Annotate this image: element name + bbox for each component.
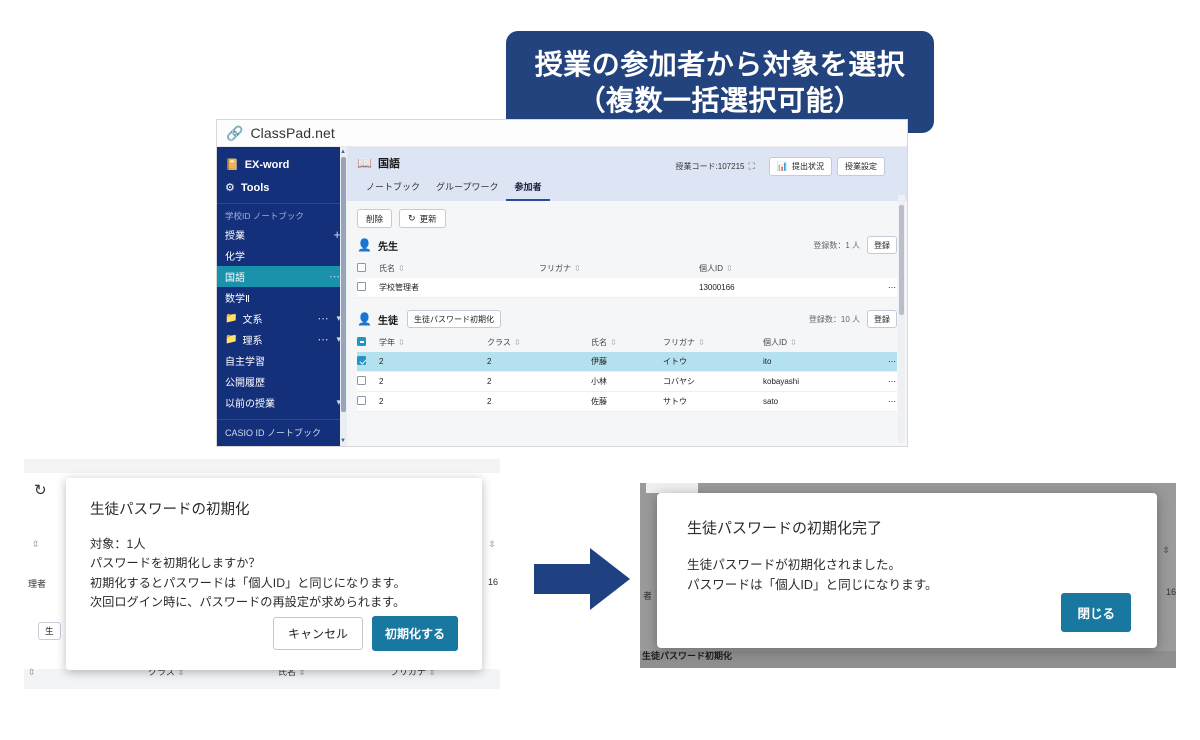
sidebar-item-label: 数学Ⅱ xyxy=(225,290,341,305)
column-header-kana[interactable]: フリガナ⇳ xyxy=(539,259,699,278)
more-icon[interactable]: ⋯ xyxy=(317,333,329,346)
cancel-button[interactable]: キャンセル xyxy=(273,617,363,650)
column-label: 個人ID xyxy=(699,264,723,273)
book-icon: 📔 xyxy=(225,158,239,171)
student-count-label: 登録数：10 人 xyxy=(809,314,860,325)
close-button[interactable]: 閉じる xyxy=(1061,593,1131,632)
sort-icon[interactable]: ⇳ xyxy=(790,338,797,347)
content-scroll-thumb[interactable] xyxy=(899,205,904,315)
sidebar-item-kokugo[interactable]: 国語 ⋯ xyxy=(217,266,347,287)
confirm-dialog-panel: ↻ ⇳ 理者 生 ⇳ クラス ⇳ 氏名 ⇳ フリガナ ⇳ ⇳ 16 生徒パスワー… xyxy=(24,459,500,689)
row-more-icon[interactable]: ⋯ xyxy=(871,352,897,372)
button-label: 授業設定 xyxy=(845,161,877,172)
sidebar-item-kagaku[interactable]: 化学 xyxy=(217,245,347,266)
more-icon[interactable]: ⋯ xyxy=(317,312,329,325)
student-register-button[interactable]: 登録 xyxy=(867,310,897,328)
content-header: 📖 国語 授業コード:107215 ⛶ 📊 提出状況 授業設定 ノートブック xyxy=(347,147,907,201)
checkbox[interactable] xyxy=(357,396,366,405)
cell-grade: 2 xyxy=(379,392,487,412)
cell-class: 2 xyxy=(487,372,591,392)
sidebar-item-izennojugyo[interactable]: 以前の授業 ▾ xyxy=(217,392,347,413)
column-label: 学年 xyxy=(379,338,395,347)
password-reset-confirm-dialog: 生徒パスワードの初期化 対象：1人 パスワードを初期化しますか？ 初期化するとパ… xyxy=(66,478,482,670)
checkbox[interactable] xyxy=(357,337,366,346)
sidebar-scrollbar[interactable]: ▲ ▼ xyxy=(340,147,347,446)
button-label: 更新 xyxy=(420,213,437,225)
bg-reset-label[interactable]: 生徒パスワード初期化 xyxy=(642,649,732,662)
sidebar-item-label: Tools xyxy=(241,182,270,194)
book-open-icon: 📖 xyxy=(357,156,372,170)
dialog-title: 生徒パスワードの初期化 xyxy=(90,498,458,519)
callout-line-2: （複数一括選択可能） xyxy=(516,83,924,119)
cell-name: 佐藤 xyxy=(591,392,663,412)
column-header-id[interactable]: 個人ID⇳ xyxy=(699,259,871,278)
teacher-register-button[interactable]: 登録 xyxy=(867,236,897,254)
tab-participants[interactable]: 参加者 xyxy=(506,180,549,201)
toolbox-icon: ⚙ xyxy=(225,181,235,194)
right-arrow-icon xyxy=(534,548,630,610)
reset-student-password-button[interactable]: 生徒パスワード初期化 xyxy=(407,310,501,328)
cell-id: 13000166 xyxy=(699,278,871,298)
button-label: 登録 xyxy=(874,240,890,251)
sort-icon[interactable]: ⇳ xyxy=(574,264,581,273)
sort-icon[interactable]: ⇳ xyxy=(726,264,733,273)
student-section-header: 👤 生徒 生徒パスワード初期化 登録数：10 人 登録 xyxy=(357,308,897,330)
dialog-title: 生徒パスワードの初期化完了 xyxy=(687,517,1129,538)
cell-id: ito xyxy=(763,352,871,372)
teacher-table: 氏名⇳ フリガナ⇳ 個人ID⇳ 学校管理者 13000166 ⋯ xyxy=(357,259,897,298)
cell-name: 伊藤 xyxy=(591,352,663,372)
column-header-grade[interactable]: 学年⇳ xyxy=(379,333,487,352)
row-more-icon[interactable]: ⋯ xyxy=(871,372,897,392)
row-checkbox[interactable] xyxy=(357,372,379,392)
column-label: クラス xyxy=(487,338,511,347)
completion-dialog-panel: 者 生徒パスワード初期化 ⇳ 16 生徒パスワードの初期化完了 生徒パスワードが… xyxy=(640,483,1176,668)
table-row[interactable]: 2 2 佐藤 サトウ sato ⋯ xyxy=(357,392,897,412)
sort-icon: ⇳ xyxy=(1162,545,1170,556)
sidebar-item-label: 理系 xyxy=(242,332,313,347)
tab-bar: ノートブック グループワーク 参加者 xyxy=(357,180,897,201)
dialog-line: 対象：1人 xyxy=(90,535,458,554)
reset-confirm-button[interactable]: 初期化する xyxy=(372,616,458,651)
sort-icon: ⇳ xyxy=(28,667,36,678)
cell-id: sato xyxy=(763,392,871,412)
student-section-title: 生徒 xyxy=(378,312,398,327)
cell-kana: コバヤシ xyxy=(663,372,763,392)
student-section: 👤 生徒 生徒パスワード初期化 登録数：10 人 登録 学年⇳ クラ xyxy=(347,308,907,412)
cell-name: 学校管理者 xyxy=(379,278,539,298)
student-icon: 👤 xyxy=(357,312,372,326)
dialog-actions: キャンセル 初期化する xyxy=(273,616,458,651)
password-reset-complete-dialog: 生徒パスワードの初期化完了 生徒パスワードが初期化されました。 パスワードは「個… xyxy=(657,493,1157,648)
app-titlebar: 🔗 ClassPad.net xyxy=(217,120,907,147)
dialog-line: 初期化するとパスワードは「個人ID」と同じになります。 xyxy=(90,574,458,593)
sidebar-item-bunkei[interactable]: 📁 文系 ⋯ ▾ xyxy=(217,308,347,329)
class-settings-button[interactable]: 授業設定 xyxy=(837,157,885,176)
checkbox[interactable] xyxy=(357,282,366,291)
button-label: 登録 xyxy=(874,314,890,325)
app-logo-text: ClassPad.net xyxy=(250,125,334,141)
sidebar-item-label: 自主学習 xyxy=(225,353,341,368)
button-label: 提出状況 xyxy=(792,161,824,172)
cell-grade: 2 xyxy=(379,352,487,372)
dialog-line: パスワードを初期化しますか？ xyxy=(90,554,458,573)
button-label: 生徒パスワード初期化 xyxy=(414,314,494,325)
row-checkbox[interactable] xyxy=(357,352,379,372)
sort-icon[interactable]: ⇳ xyxy=(698,338,705,347)
row-more-icon[interactable]: ⋯ xyxy=(871,392,897,412)
teacher-section: 👤 先生 登録数：1 人 登録 氏名⇳ フリガナ⇳ 個人ID⇳ xyxy=(347,234,907,298)
sidebar-item-koukairireki[interactable]: 公開履歴 xyxy=(217,371,347,392)
teacher-section-header: 👤 先生 登録数：1 人 登録 xyxy=(357,234,897,256)
cell-class: 2 xyxy=(487,392,591,412)
tab-notebook[interactable]: ノートブック xyxy=(358,180,428,201)
sidebar-item-suugaku2[interactable]: 数学Ⅱ xyxy=(217,287,347,308)
cell-id: kobayashi xyxy=(763,372,871,392)
table-row[interactable]: 2 2 小林 コバヤシ kobayashi ⋯ xyxy=(357,372,897,392)
bg-id-fragment: 16 xyxy=(488,577,498,587)
sidebar-item-label: EX-word xyxy=(245,159,290,171)
scroll-down-icon[interactable]: ▼ xyxy=(340,438,346,444)
row-more-icon[interactable]: ⋯ xyxy=(871,278,897,298)
column-header-id[interactable]: 個人ID⇳ xyxy=(763,333,871,352)
student-table: 学年⇳ クラス⇳ 氏名⇳ フリガナ⇳ 個人ID⇳ 2 2 伊藤 イトウ ito xyxy=(357,333,897,412)
dialog-actions: 閉じる xyxy=(1061,593,1131,632)
column-header-kana[interactable]: フリガナ⇳ xyxy=(663,333,763,352)
checkbox[interactable] xyxy=(357,376,366,385)
content-area: 📖 国語 授業コード:107215 ⛶ 📊 提出状況 授業設定 ノートブック xyxy=(347,147,907,446)
sidebar-item-label: 文系 xyxy=(242,311,313,326)
column-label: フリガナ xyxy=(539,264,571,273)
cell-class: 2 xyxy=(487,352,591,372)
refresh-button[interactable]: ↻ 更新 xyxy=(399,209,446,228)
folder-icon: 📁 xyxy=(225,334,237,345)
table-row[interactable]: 2 2 伊藤 イトウ ito ⋯ xyxy=(357,352,897,372)
column-label: フリガナ xyxy=(663,338,695,347)
cell-kana xyxy=(539,278,699,298)
cell-kana: イトウ xyxy=(663,352,763,372)
column-label: 個人ID xyxy=(763,338,787,347)
sidebar-item-tools[interactable]: ⚙ Tools xyxy=(217,176,347,199)
dialog-line: 次回ログイン時に、パスワードの再設定が求められます。 xyxy=(90,593,458,612)
sidebar-section-school: 学校ID ノートブック xyxy=(217,204,347,224)
app-window: 🔗 ClassPad.net 📔 EX-word ⚙ Tools 学校ID ノー… xyxy=(217,120,907,446)
refresh-icon[interactable]: ↻ xyxy=(34,481,47,499)
page-title-text: 国語 xyxy=(378,155,400,171)
sidebar-item-label: 以前の授業 xyxy=(225,395,329,410)
bg-student-fragment[interactable]: 生 xyxy=(38,622,61,640)
sort-icon[interactable]: ⇳ xyxy=(610,338,617,347)
column-header-class[interactable]: クラス⇳ xyxy=(487,333,591,352)
callout-balloon: 授業の参加者から対象を選択 （複数一括選択可能） xyxy=(506,31,934,133)
bg-admin-fragment: 者 xyxy=(643,589,652,602)
teacher-select-all-checkbox[interactable] xyxy=(357,259,379,278)
table-row[interactable]: 学校管理者 13000166 ⋯ xyxy=(357,278,897,298)
sidebar-item-label: 公開履歴 xyxy=(225,374,341,389)
bg-admin-fragment: 理者 xyxy=(28,577,46,590)
sidebar-item-jishugakushu[interactable]: 自主学習 xyxy=(217,350,347,371)
teacher-section-title: 先生 xyxy=(378,238,398,253)
student-select-all-checkbox[interactable] xyxy=(357,333,379,352)
sidebar-scroll-thumb[interactable] xyxy=(341,157,346,412)
sort-icon: ⇳ xyxy=(32,539,40,550)
content-scrollbar[interactable] xyxy=(898,195,905,443)
sidebar-section-casio: CASIO ID ノートブック xyxy=(217,420,347,441)
sidebar-item-jugyo[interactable]: 授業 + xyxy=(217,224,347,245)
table-header-row: 学年⇳ クラス⇳ 氏名⇳ フリガナ⇳ 個人ID⇳ xyxy=(357,333,897,352)
checkbox[interactable] xyxy=(357,356,366,365)
column-label: 氏名 xyxy=(591,338,607,347)
sidebar-item-exword[interactable]: 📔 EX-word xyxy=(217,153,347,176)
scroll-up-icon[interactable]: ▲ xyxy=(340,149,346,155)
folder-icon: 📁 xyxy=(225,313,237,324)
table-header-row: 氏名⇳ フリガナ⇳ 個人ID⇳ xyxy=(357,259,897,278)
sort-icon[interactable]: ⇳ xyxy=(398,338,405,347)
teacher-icon: 👤 xyxy=(357,238,372,252)
tab-groupwork[interactable]: グループワーク xyxy=(428,180,506,201)
sidebar-item-label: 授業 xyxy=(225,227,329,242)
expand-icon[interactable]: ⛶ xyxy=(748,161,754,172)
toolbar: 削除 ↻ 更新 xyxy=(347,201,907,234)
sidebar-item-label: 化学 xyxy=(225,248,341,263)
column-header-name[interactable]: 氏名⇳ xyxy=(379,259,539,278)
row-checkbox[interactable] xyxy=(357,278,379,298)
column-header-name[interactable]: 氏名⇳ xyxy=(591,333,663,352)
row-checkbox[interactable] xyxy=(357,392,379,412)
teacher-count-label: 登録数：1 人 xyxy=(813,240,860,251)
cell-name: 小林 xyxy=(591,372,663,392)
button-label: 削除 xyxy=(366,213,383,225)
sort-icon[interactable]: ⇳ xyxy=(514,338,521,347)
refresh-icon: ↻ xyxy=(408,213,416,224)
callout-line-1: 授業の参加者から対象を選択 xyxy=(516,47,924,83)
link-icon: 🔗 xyxy=(226,126,243,140)
submission-icon: 📊 xyxy=(777,161,788,172)
delete-button[interactable]: 削除 xyxy=(357,209,392,228)
sidebar-item-label: 国語 xyxy=(225,269,325,284)
column-label: 氏名 xyxy=(379,264,395,273)
bg-id-fragment: 16 xyxy=(1166,587,1176,597)
class-code-label: 授業コード:107215 xyxy=(676,161,745,172)
submission-status-button[interactable]: 📊 提出状況 xyxy=(769,157,832,176)
cell-grade: 2 xyxy=(379,372,487,392)
header-actions: 授業コード:107215 ⛶ 📊 提出状況 授業設定 xyxy=(676,157,885,176)
checkbox[interactable] xyxy=(357,263,366,272)
cell-kana: サトウ xyxy=(663,392,763,412)
sidebar-item-rikei[interactable]: 📁 理系 ⋯ ▾ xyxy=(217,329,347,350)
sort-icon: ⇳ xyxy=(488,539,496,550)
sidebar: 📔 EX-word ⚙ Tools 学校ID ノートブック 授業 + 化学 国語… xyxy=(217,147,347,446)
sort-icon[interactable]: ⇳ xyxy=(398,264,405,273)
dialog-line: 生徒パスワードが初期化されました。 xyxy=(687,555,1129,575)
